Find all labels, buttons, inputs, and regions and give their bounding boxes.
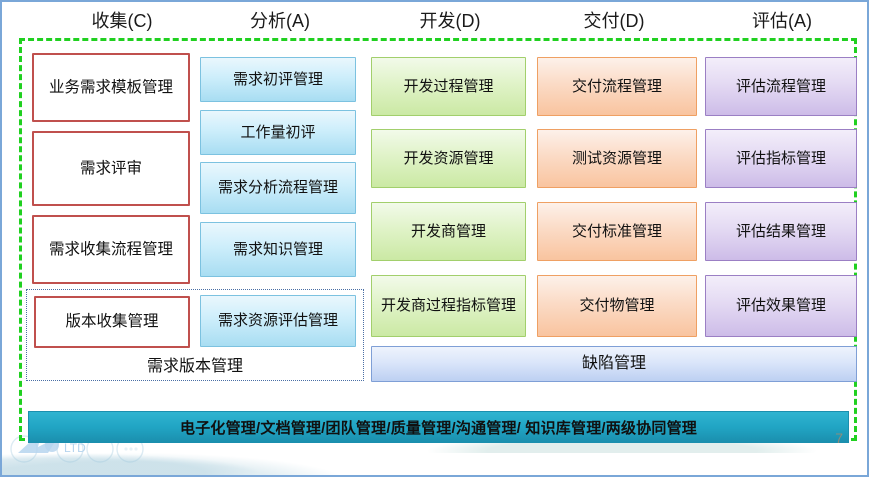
delivery-item-label: 交付流程管理	[572, 78, 662, 95]
analysis-item-requirement-knowledge[interactable]: 需求知识管理	[200, 222, 356, 277]
evaluation-item-label: 评估流程管理	[736, 78, 826, 95]
collect-item-label: 版本收集管理	[65, 313, 158, 331]
development-item-development-process[interactable]: 开发过程管理	[371, 57, 526, 116]
collect-item-requirement-collection-process[interactable]: 需求收集流程管理	[32, 215, 190, 284]
column-header-collect: 收集(C)	[42, 6, 202, 36]
column-header-delivery: 交付(D)	[530, 6, 698, 36]
analysis-item-label: 需求分析流程管理	[218, 179, 338, 196]
evaluation-item-evaluation-process[interactable]: 评估流程管理	[705, 57, 857, 116]
evaluation-item-evaluation-effectiveness[interactable]: 评估效果管理	[705, 275, 857, 337]
slide-canvas: LTD 收集(C) 分析(A) 开发(D) 交付(D) 评估(A) 需求版本管理…	[0, 0, 869, 477]
evaluation-item-label: 评估结果管理	[736, 223, 826, 240]
collect-item-label: 业务需求模板管理	[49, 79, 173, 97]
analysis-item-workload-estimate[interactable]: 工作量初评	[200, 110, 356, 155]
evaluation-item-evaluation-result[interactable]: 评估结果管理	[705, 202, 857, 261]
delivery-item-label: 交付标准管理	[572, 223, 662, 240]
analysis-item-requirement-analysis-process[interactable]: 需求分析流程管理	[200, 162, 356, 214]
collect-item-label: 需求收集流程管理	[49, 241, 173, 259]
evaluation-item-evaluation-metrics[interactable]: 评估指标管理	[705, 129, 857, 188]
delivery-item-delivery-process[interactable]: 交付流程管理	[537, 57, 697, 116]
development-item-development-resource[interactable]: 开发资源管理	[371, 129, 526, 188]
delivery-item-label: 测试资源管理	[572, 150, 662, 167]
collect-item-version-collection[interactable]: 版本收集管理	[34, 296, 190, 348]
foundation-services-text: 电子化管理/文档管理/团队管理/质量管理/沟通管理/ 知识库管理/两级协同管理	[180, 417, 697, 438]
development-item-label: 开发商过程指标管理	[381, 297, 516, 314]
column-headers: 收集(C) 分析(A) 开发(D) 交付(D) 评估(A)	[2, 6, 869, 38]
evaluation-item-label: 评估效果管理	[736, 297, 826, 314]
analysis-item-label: 需求初评管理	[233, 71, 323, 88]
column-header-analysis: 分析(A)	[200, 6, 360, 36]
analysis-item-initial-requirement-review[interactable]: 需求初评管理	[200, 57, 356, 102]
column-header-development: 开发(D)	[370, 6, 530, 36]
development-item-label: 开发资源管理	[403, 150, 493, 167]
page-number: 7	[835, 430, 843, 446]
delivery-item-test-resource[interactable]: 测试资源管理	[537, 129, 697, 188]
development-item-label: 开发过程管理	[403, 78, 493, 95]
svg-text:LTD: LTD	[64, 441, 86, 455]
foundation-services-banner: 电子化管理/文档管理/团队管理/质量管理/沟通管理/ 知识库管理/两级协同管理	[28, 411, 849, 443]
development-item-label: 开发商管理	[411, 223, 486, 240]
collect-item-business-requirement-template[interactable]: 业务需求模板管理	[32, 53, 190, 122]
analysis-item-requirement-resource-assessment[interactable]: 需求资源评估管理	[200, 295, 356, 347]
delivery-item-deliverable[interactable]: 交付物管理	[537, 275, 697, 337]
analysis-item-label: 需求知识管理	[233, 241, 323, 258]
defect-management-label: 缺陷管理	[582, 355, 646, 373]
collect-item-label: 需求评审	[80, 160, 142, 178]
version-management-label: 需求版本管理	[26, 350, 364, 378]
analysis-item-label: 需求资源评估管理	[218, 312, 338, 329]
delivery-item-delivery-standard[interactable]: 交付标准管理	[537, 202, 697, 261]
delivery-item-label: 交付物管理	[579, 297, 654, 314]
collect-item-requirement-review[interactable]: 需求评审	[32, 131, 190, 206]
defect-management-bar[interactable]: 缺陷管理	[371, 346, 857, 382]
analysis-item-label: 工作量初评	[240, 124, 315, 141]
development-item-vendor-process-metrics[interactable]: 开发商过程指标管理	[371, 275, 526, 337]
development-item-vendor[interactable]: 开发商管理	[371, 202, 526, 261]
column-header-evaluation: 评估(A)	[702, 6, 862, 36]
evaluation-item-label: 评估指标管理	[736, 150, 826, 167]
